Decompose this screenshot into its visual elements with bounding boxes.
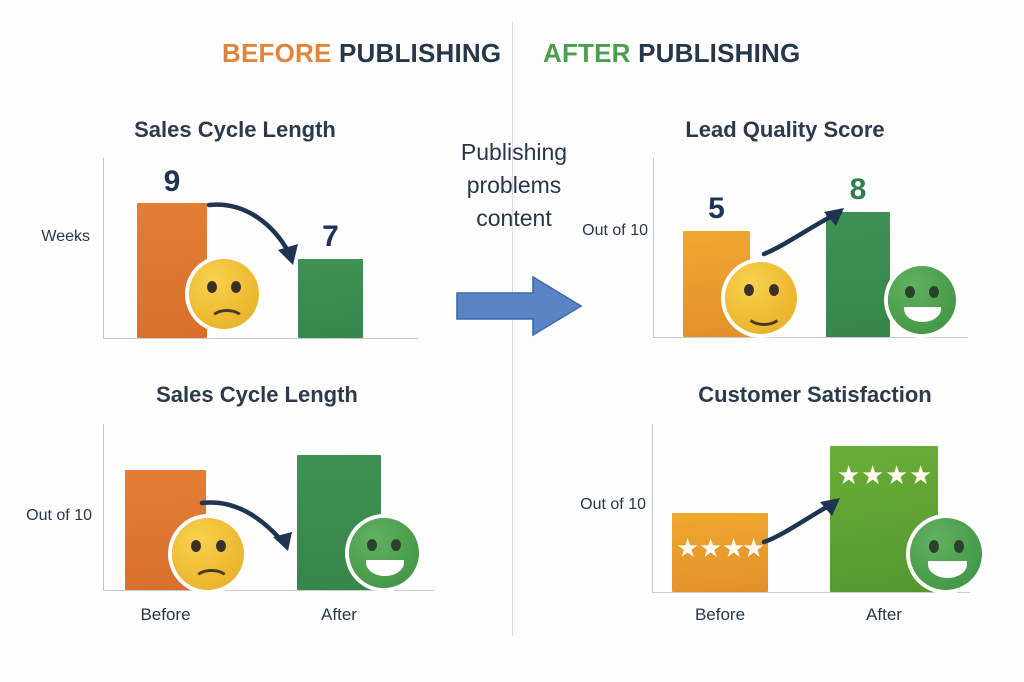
mouth-frown [193,569,230,593]
eye-left [207,281,217,293]
x-axis-line [103,590,434,591]
center-caption-line-1: Publishing [440,136,588,169]
smile-face-green-icon [910,518,982,590]
y-axis-label: Out of 10 [558,496,646,514]
eye-left [929,540,939,553]
star-icon: ★ [837,462,860,488]
bar-before-value: 5 [683,192,750,226]
bar-before-value: 9 [137,165,207,199]
header-after-accent: AFTER [543,38,631,68]
smile-face-green-icon [349,518,419,588]
y-axis-label: Weeks [8,228,90,246]
star-icon: ★ [699,535,722,561]
infographic-canvas: BEFORE PUBLISHING AFTER PUBLISHING Publi… [0,0,1024,682]
mouth-open-smile [366,560,404,576]
trend-arrow-up-icon [760,198,855,265]
center-caption-line-2: problems [440,169,588,202]
mouth-open-smile [928,561,967,578]
eye-left [744,284,754,296]
eye-right [954,540,964,553]
smile-face-green-icon [888,266,956,334]
chart-title: Customer Satisfaction [655,382,975,408]
x-label-after: After [297,605,381,625]
x-label-after: After [830,605,938,625]
chart-title: Sales Cycle Length [112,382,402,408]
x-label-before: Before [672,605,768,625]
mouth-open-smile [904,307,941,322]
mouth-frown [209,309,245,333]
star-icon: ★ [909,462,932,488]
bar-before: ★ ★ ★ ★ [672,513,768,592]
header-after-rest: PUBLISHING [638,38,800,68]
center-caption: Publishing problems content [440,136,588,235]
eye-left [367,539,377,551]
eye-left [905,286,915,298]
eye-right [769,284,779,296]
transition-arrow-icon [455,275,583,342]
header-before-accent: BEFORE [222,38,332,68]
star-icon: ★ [861,462,884,488]
y-axis-line [652,424,653,593]
eye-right [231,281,241,293]
chart-title: Sales Cycle Length [95,117,375,143]
header-before-publishing: BEFORE PUBLISHING [222,38,501,69]
sad-face-icon [172,518,244,590]
x-axis-line [653,337,968,338]
y-axis-line [103,424,104,591]
x-axis-line [103,338,418,339]
y-axis-line [653,158,654,338]
sad-face-icon [189,259,259,329]
eye-left [191,540,201,552]
y-axis-label: Out of 10 [8,507,92,525]
header-before-rest: PUBLISHING [339,38,501,68]
eye-right [391,539,401,551]
eye-right [929,286,939,298]
star-icon: ★ [676,535,699,561]
star-icon: ★ [885,462,908,488]
chart-title: Lead Quality Score [645,117,925,143]
smile-face-yellow-icon [725,262,797,334]
header-after-publishing: AFTER PUBLISHING [543,38,800,69]
x-label-before: Before [125,605,206,625]
mouth-smile [745,300,783,326]
eye-right [216,540,226,552]
trend-arrow-up-icon [760,490,852,557]
x-axis-line [652,592,970,593]
y-axis-label: Out of 10 [560,222,648,240]
y-axis-line [103,158,104,339]
